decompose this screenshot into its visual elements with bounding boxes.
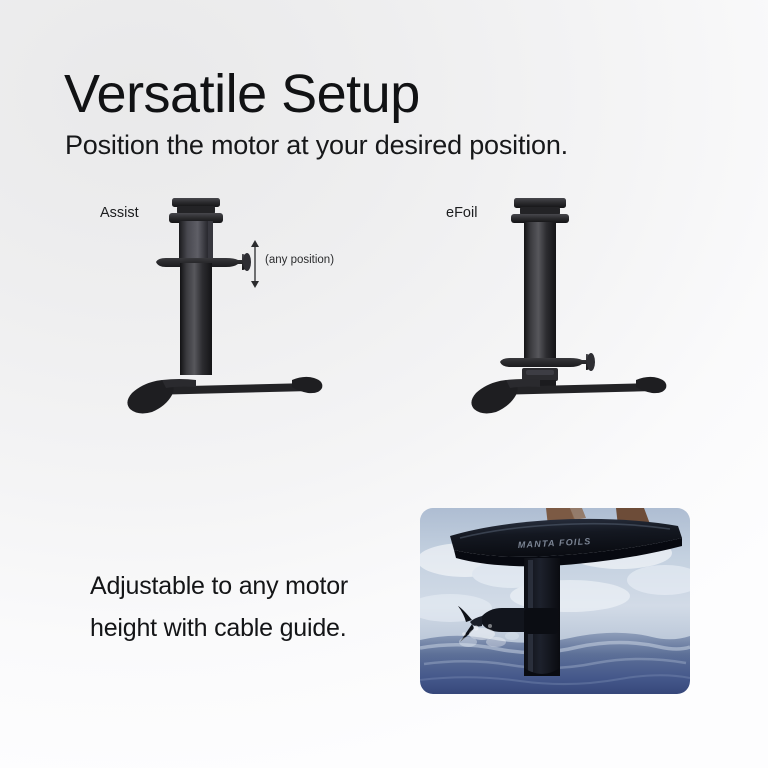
diagram-assist: Assist (96, 190, 346, 430)
caption-line-1: Adjustable to any motor (90, 565, 410, 607)
assist-mast-illustration (96, 190, 346, 430)
double-arrow-vertical-icon (247, 240, 263, 288)
product-photo: MANTA FOILS (420, 508, 690, 694)
caption-line-2: height with cable guide. (90, 607, 410, 649)
mast-body (180, 263, 212, 375)
any-position-note: (any position) (265, 253, 334, 267)
mast-top-plate (514, 198, 566, 215)
efoil-mast-illustration (440, 190, 690, 430)
mast-upper-collar (511, 214, 569, 223)
diagram-efoil: eFoil (440, 190, 690, 430)
page-subtitle: Position the motor at your desired posit… (65, 128, 568, 162)
page-title: Versatile Setup (64, 64, 420, 124)
page-root: Versatile Setup Position the motor at yo… (0, 0, 768, 768)
caption-block: Adjustable to any motor height with cabl… (90, 565, 410, 649)
foil-wing-assembly (471, 377, 666, 414)
photo-scene: MANTA FOILS (420, 508, 690, 694)
foil-wing-assembly (127, 377, 322, 414)
mast-body (524, 222, 556, 362)
mast-top-plate (172, 198, 220, 214)
mast-upper-tube (179, 221, 213, 263)
